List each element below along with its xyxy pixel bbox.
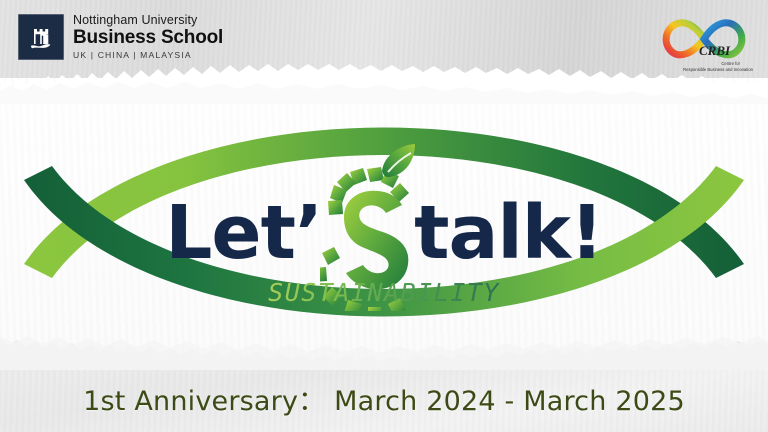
wordmark-talk-text: talk! <box>414 196 603 270</box>
sustainability-text: SUSTAINABILITY <box>268 278 500 307</box>
university-campuses-line: UK | CHINA | MALAYSIA <box>73 51 223 60</box>
castle-crest-icon <box>18 14 64 60</box>
university-name-line1: Nottingham University <box>73 14 223 27</box>
crbi-centre-logo: CRBI Centre for Responsible Business and… <box>652 6 756 80</box>
sustainability-subtitle: SUSTAINABILITY <box>0 278 768 307</box>
crbi-subtitle-line2: Responsible Business and Innovation <box>683 67 754 72</box>
slide-canvas: Let’ <box>0 0 768 432</box>
nottingham-university-wordmark: Nottingham University Business School UK… <box>73 14 223 59</box>
crbi-subtitle-line1: Centre for <box>721 61 740 66</box>
wordmark: Let’ <box>0 178 768 288</box>
anniversary-caption: 1st Anniversary： March 2024 - March 2025 <box>0 379 768 418</box>
university-name-line2: Business School <box>73 28 223 47</box>
wordmark-lets-text: Let’ <box>165 196 322 270</box>
crbi-acronym-text: CRBI <box>699 43 731 58</box>
nottingham-university-logo: Nottingham University Business School UK… <box>18 14 223 60</box>
